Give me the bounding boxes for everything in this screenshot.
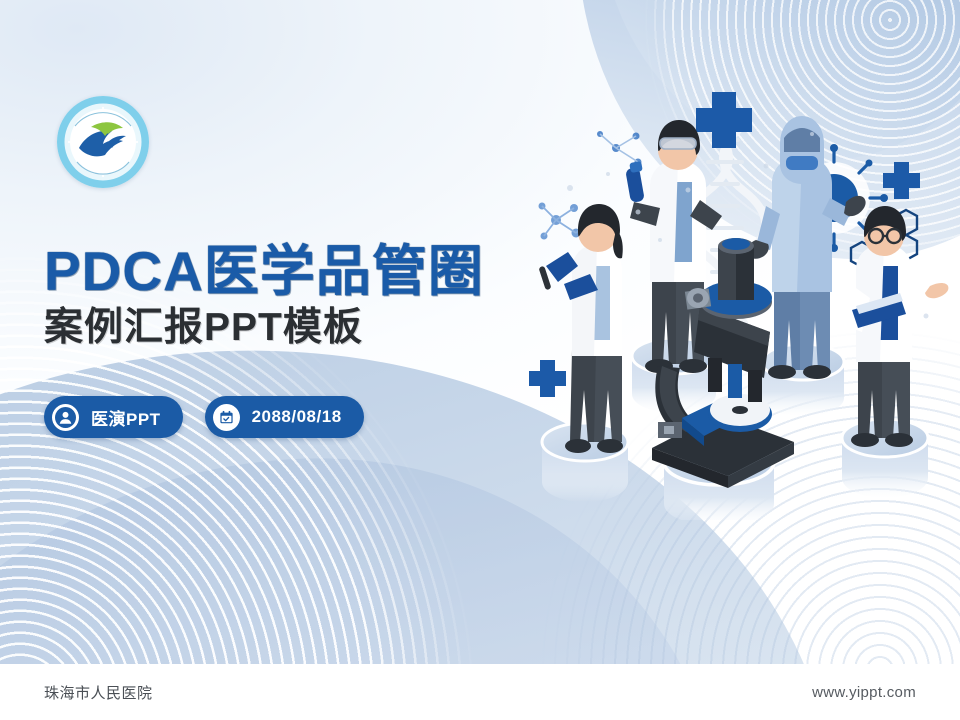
presentation-slide: PDCA医学品管圈 案例汇报PPT模板 医演PPT — [0, 0, 960, 720]
page-title: PDCA医学品管圈 — [44, 243, 564, 300]
footer-website[interactable]: www.yippt.com — [812, 684, 916, 701]
footer: 珠海市人民医院 www.yippt.com — [0, 664, 960, 720]
user-icon — [52, 404, 79, 431]
date-badge-label: 2088/08/18 — [252, 407, 342, 427]
author-badge[interactable]: 医演PPT — [44, 396, 183, 438]
title-block: PDCA医学品管圈 案例汇报PPT模板 — [44, 243, 564, 350]
footer-organization: 珠海市人民医院 — [44, 682, 153, 703]
female-scientist-with-pipette — [538, 204, 623, 453]
hospital-logo — [57, 96, 149, 188]
molecule-top-left — [597, 131, 642, 166]
medical-research-team-illustration — [512, 70, 960, 520]
date-badge[interactable]: 2088/08/18 — [205, 396, 364, 438]
page-subtitle: 案例汇报PPT模板 — [44, 306, 564, 350]
meta-badges: 医演PPT 2088/08/18 — [44, 396, 364, 438]
calendar-icon — [213, 404, 240, 431]
author-badge-label: 医演PPT — [91, 405, 161, 430]
